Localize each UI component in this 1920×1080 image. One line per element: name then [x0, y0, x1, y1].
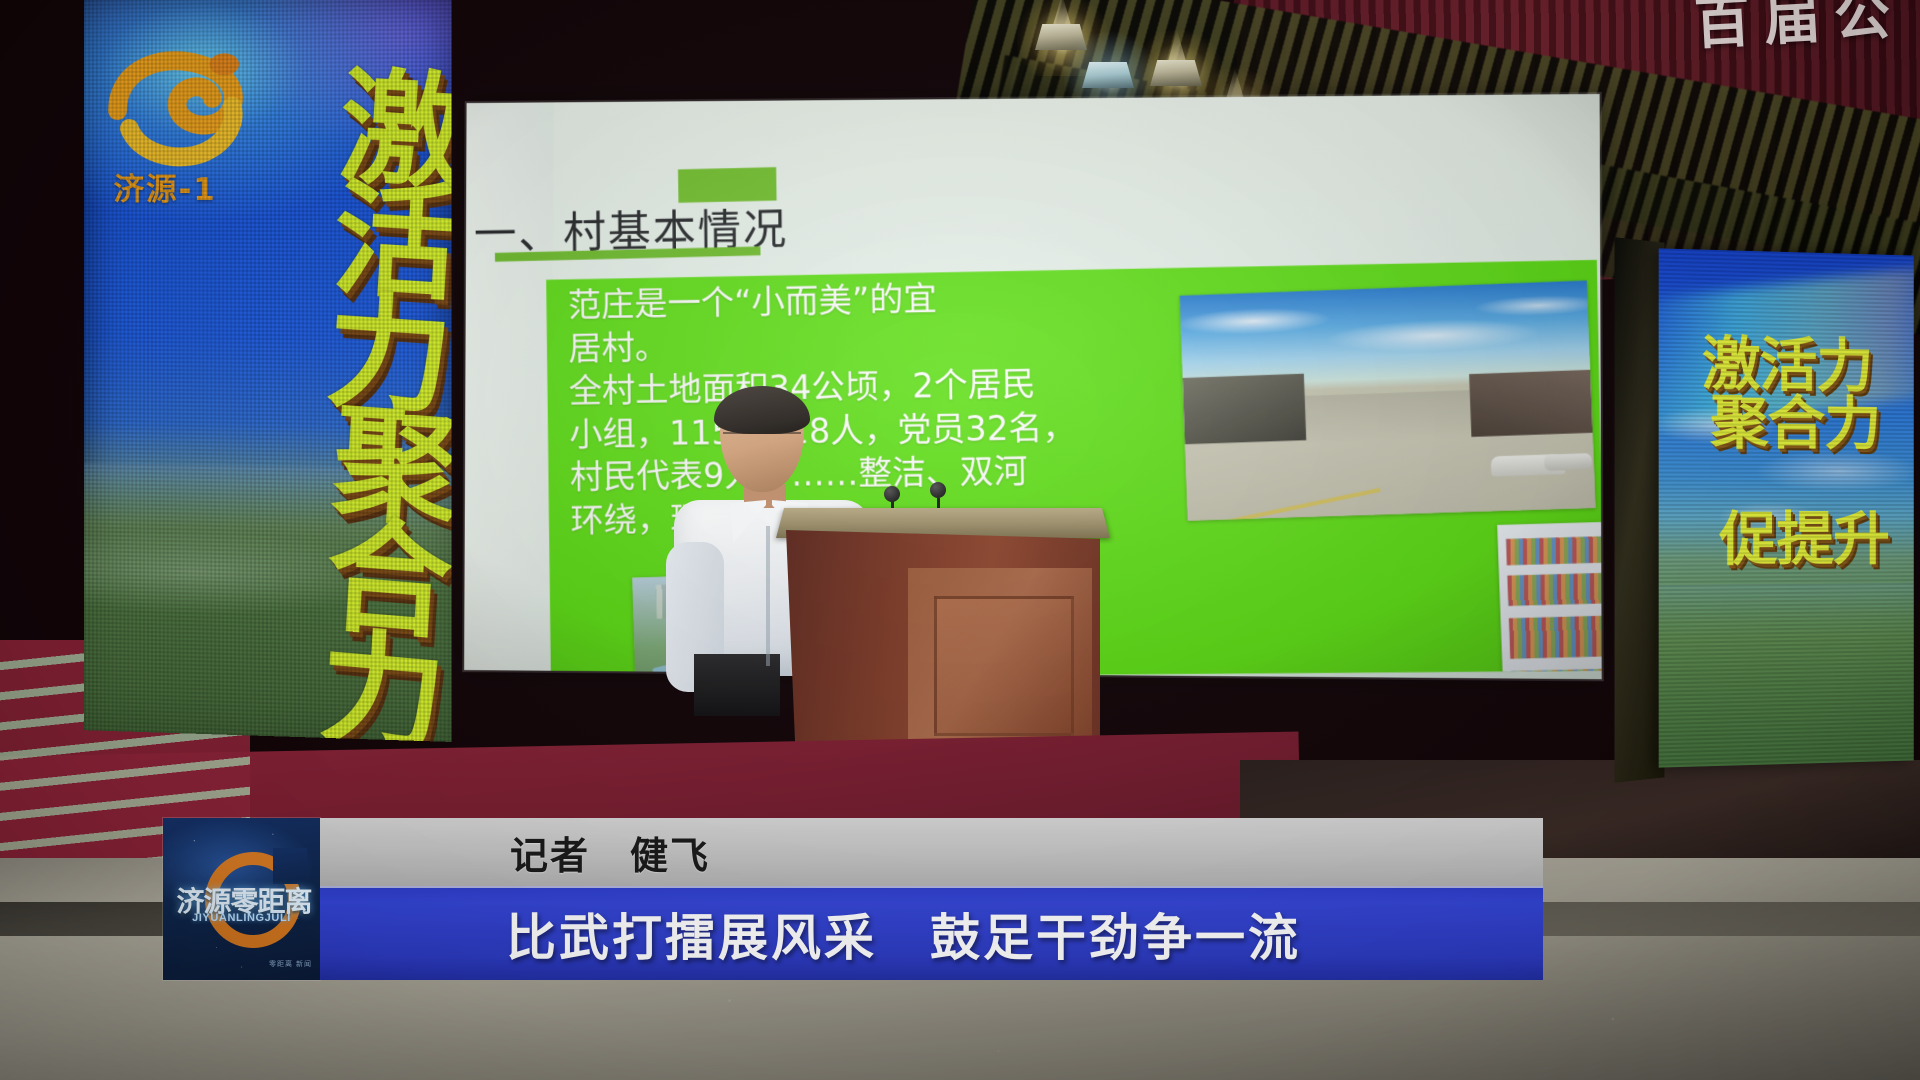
led-banner-left: 激活力 聚合力 促提升 济源-1 [84, 0, 452, 742]
program-logo-micro-text: 零距离 新闻 [269, 960, 312, 971]
program-logo: 济源零距离 JIYUANLINGJULI 零距离 新闻 [163, 818, 320, 980]
stage-pillar [1615, 237, 1665, 783]
reporter-bar: 记者 健飞 [320, 818, 1543, 886]
glasses-icon [723, 432, 801, 446]
program-logo-en: JIYUANLINGJULI [163, 912, 320, 924]
village-plan-photo [1497, 519, 1602, 679]
microphone-icon [884, 486, 900, 502]
stage-lamp-icon [1082, 52, 1138, 92]
led-banner-right: 激活力 聚合力 促提升 [1659, 248, 1914, 767]
reporter-label: 记者 健飞 [510, 825, 710, 880]
stage-lamp-icon [1035, 14, 1091, 54]
broadcast-frame: 百届公 一、村基本情况 范庄是一个“小而美”的宜 居村。 全村土地面积34公顷，… [0, 0, 1920, 1080]
stage-lamp-icon [1150, 50, 1206, 90]
microphone-icon [930, 482, 946, 498]
headline-text: 比武打擂展风采 鼓足干劲争一流 [506, 898, 1301, 970]
headline-bar: 比武打擂展风采 鼓足干劲争一流 [320, 886, 1543, 980]
screen-left-gutter [464, 102, 554, 670]
lower-third: 济源零距离 JIYUANLINGJULI 零距离 新闻 记者 健飞 比武打擂展风… [163, 818, 1543, 980]
podium [776, 500, 1110, 750]
village-street-photo [1180, 281, 1596, 521]
